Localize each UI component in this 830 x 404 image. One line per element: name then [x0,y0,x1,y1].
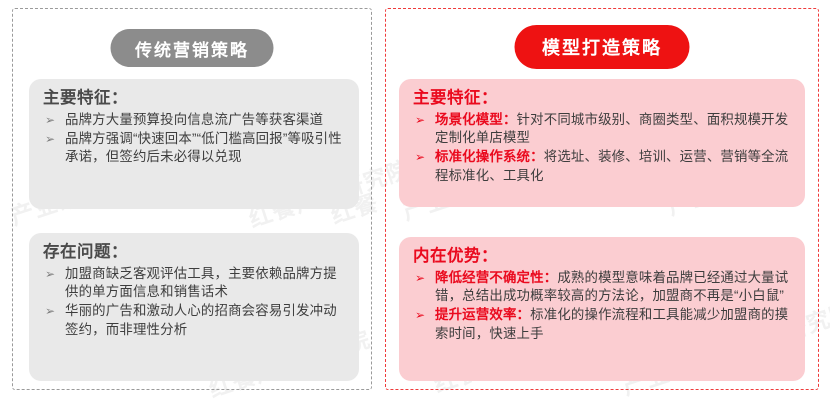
card-right-intrinsic-advantages: 内在优势： ➢ 降低经营不确定性：成熟的模型意味着品牌已经通过大量试错，总结出成… [399,237,805,381]
list-item-term: 降低经营不确定性： [435,270,557,285]
list-item: ➢ 品牌方大量预算投向信息流广告等获客渠道 [43,111,347,129]
list-item-text: 品牌方强调“快速回本”“低门槛高回报”等吸引性承诺，但签约后未必得以兑现 [65,131,342,164]
list-item: ➢ 标准化操作系统：将选址、装修、培训、运营、营销等全流程标准化、工具化 [413,148,793,185]
list-item: ➢ 提升运营效率：标准化的操作流程和工具能减少加盟商的摸索时间，快速上手 [413,306,793,343]
bullet-list: ➢ 场景化模型：针对不同城市级别、商圈类型、面积规模开发定制化单店模型 ➢ 标准… [413,111,793,185]
bullet-list: ➢ 加盟商缺乏客观评估工具，主要依赖品牌方提供的单方面信息和销售话术 ➢ 华丽的… [43,265,347,339]
bullet-list: ➢ 降低经营不确定性：成熟的模型意味着品牌已经通过大量试错，总结出成功概率较高的… [413,269,793,343]
list-item: ➢ 加盟商缺乏客观评估工具，主要依赖品牌方提供的单方面信息和销售话术 [43,265,347,302]
bullet-list: ➢ 品牌方大量预算投向信息流广告等获客渠道 ➢ 品牌方强调“快速回本”“低门槛高… [43,111,347,167]
panel-left-title-pill: 传统营销策略 [111,29,274,67]
card-left-main-features: 主要特征： ➢ 品牌方大量预算投向信息流广告等获客渠道 ➢ 品牌方强调“快速回本… [29,79,359,209]
panel-right-title-pill: 模型打造策略 [515,25,690,69]
list-item: ➢ 场景化模型：针对不同城市级别、商圈类型、面积规模开发定制化单店模型 [413,111,793,148]
comparison-board: 传统营销策略 主要特征： ➢ 品牌方大量预算投向信息流广告等获客渠道 ➢ 品牌方… [0,0,830,404]
arrow-bullet-icon: ➢ [45,302,55,320]
list-item-term: 标准化操作系统： [435,149,544,164]
arrow-bullet-icon: ➢ [415,269,425,287]
card-left-existing-problems: 存在问题： ➢ 加盟商缺乏客观评估工具，主要依赖品牌方提供的单方面信息和销售话术… [29,233,359,381]
arrow-bullet-icon: ➢ [415,306,425,324]
arrow-bullet-icon: ➢ [45,265,55,283]
card-heading: 主要特征： [43,88,347,109]
list-item: ➢ 降低经营不确定性：成熟的模型意味着品牌已经通过大量试错，总结出成功概率较高的… [413,269,793,306]
panel-traditional-marketing: 传统营销策略 主要特征： ➢ 品牌方大量预算投向信息流广告等获客渠道 ➢ 品牌方… [12,8,372,390]
arrow-bullet-icon: ➢ [45,130,55,148]
card-right-main-features: 主要特征： ➢ 场景化模型：针对不同城市级别、商圈类型、面积规模开发定制化单店模… [399,79,805,207]
arrow-bullet-icon: ➢ [415,148,425,166]
list-item-term: 提升运营效率： [435,307,530,322]
panel-right-title: 模型打造策略 [542,34,662,60]
card-heading: 主要特征： [413,88,793,109]
arrow-bullet-icon: ➢ [415,111,425,129]
list-item-term: 场景化模型： [435,112,517,127]
list-item-text: 华丽的广告和激动人心的招商会容易引发冲动签约，而非理性分析 [65,303,337,336]
card-heading: 内在优势： [413,246,793,267]
arrow-bullet-icon: ➢ [45,111,55,129]
list-item: ➢ 华丽的广告和激动人心的招商会容易引发冲动签约，而非理性分析 [43,302,347,339]
card-heading: 存在问题： [43,242,347,263]
list-item-text: 加盟商缺乏客观评估工具，主要依赖品牌方提供的单方面信息和销售话术 [65,266,337,299]
list-item: ➢ 品牌方强调“快速回本”“低门槛高回报”等吸引性承诺，但签约后未必得以兑现 [43,130,347,167]
panel-model-building-strategy: 模型打造策略 主要特征： ➢ 场景化模型：针对不同城市级别、商圈类型、面积规模开… [385,8,819,390]
panel-left-title: 传统营销策略 [135,36,249,61]
list-item-text: 品牌方大量预算投向信息流广告等获客渠道 [65,112,323,127]
